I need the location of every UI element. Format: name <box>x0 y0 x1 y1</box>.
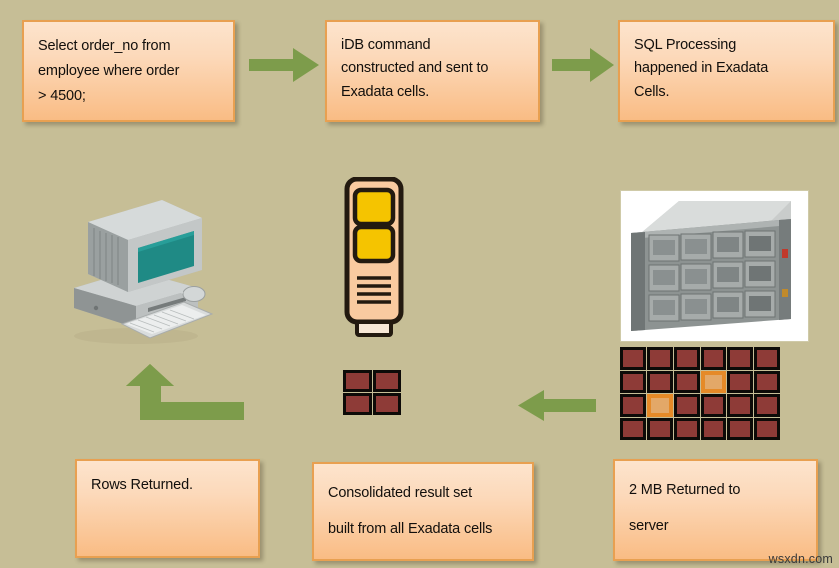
process-box-consolidated-line-1: Consolidated result set <box>328 476 518 512</box>
storage-data-blocks <box>620 347 780 440</box>
process-box-2mb-returned-line-1: 2 MB Returned to <box>629 473 802 509</box>
data-block <box>620 394 646 417</box>
data-block <box>701 394 727 417</box>
data-block <box>620 371 646 394</box>
data-block <box>727 418 753 441</box>
data-block <box>727 394 753 417</box>
server-tower-icon <box>343 177 405 345</box>
arrow-idb-to-sql-icon <box>552 48 614 82</box>
arrow-server-to-client-icon <box>118 364 244 420</box>
data-block <box>674 394 700 417</box>
process-box-idb: iDB command constructed and sent to Exad… <box>325 20 540 122</box>
process-box-idb-line-2: constructed and sent to <box>341 57 524 80</box>
process-box-consolidated: Consolidated result set built from all E… <box>312 462 534 561</box>
watermark: wsxdn.com <box>769 552 833 566</box>
data-block <box>373 370 402 392</box>
data-block <box>647 347 673 370</box>
process-box-2mb-returned: 2 MB Returned to server <box>613 459 818 561</box>
process-box-query-line-1: Select order_no from <box>38 34 219 59</box>
data-block <box>373 393 402 415</box>
data-block <box>620 418 646 441</box>
process-box-query: Select order_no from employee where orde… <box>22 20 235 122</box>
data-block <box>754 394 780 417</box>
data-block <box>727 347 753 370</box>
data-block-highlighted <box>701 371 727 394</box>
process-box-idb-line-1: iDB command <box>341 34 524 57</box>
process-box-query-line-2: employee where order <box>38 59 219 84</box>
process-box-sql-line-3: Cells. <box>634 81 819 104</box>
consolidated-result-blocks <box>343 370 401 415</box>
process-box-rows-returned: Rows Returned. <box>75 459 260 558</box>
arrow-cells-to-server-icon <box>518 390 596 421</box>
data-block <box>343 393 372 415</box>
diagram-canvas: Select order_no from employee where orde… <box>0 0 839 568</box>
data-block-highlighted <box>647 394 673 417</box>
process-box-sql-line-1: SQL Processing <box>634 34 819 57</box>
data-block <box>754 347 780 370</box>
process-box-idb-line-3: Exadata cells. <box>341 81 524 104</box>
data-block <box>754 371 780 394</box>
data-block <box>620 347 646 370</box>
process-box-consolidated-line-2: built from all Exadata cells <box>328 512 518 548</box>
data-block <box>343 370 372 392</box>
data-block <box>647 371 673 394</box>
data-block <box>647 418 673 441</box>
desktop-computer-icon <box>66 196 216 353</box>
process-box-rows-returned-line-1: Rows Returned. <box>91 473 244 498</box>
data-block <box>674 371 700 394</box>
process-box-sql-line-2: happened in Exadata <box>634 57 819 80</box>
data-block <box>701 418 727 441</box>
data-block <box>754 418 780 441</box>
exadata-storage-cell-photo <box>620 190 809 342</box>
process-box-2mb-returned-line-2: server <box>629 509 802 545</box>
process-box-sql: SQL Processing happened in Exadata Cells… <box>618 20 835 122</box>
data-block <box>727 371 753 394</box>
arrow-query-to-idb-icon <box>249 48 319 82</box>
data-block <box>674 347 700 370</box>
data-block <box>674 418 700 441</box>
data-block <box>701 347 727 370</box>
process-box-query-line-3: > 4500; <box>38 84 219 109</box>
